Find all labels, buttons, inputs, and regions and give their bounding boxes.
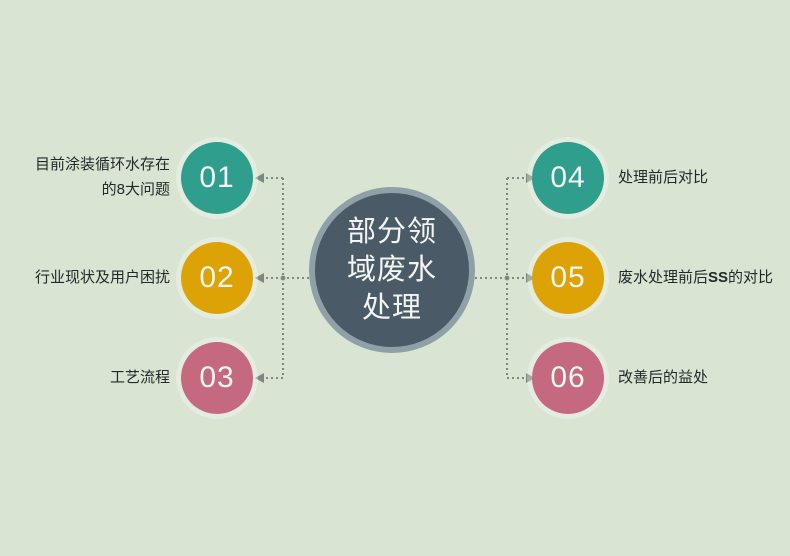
node-label-05: 废水处理前后SS的对比	[618, 265, 790, 290]
center-hub-title: 部分领 域废水 处理	[347, 213, 437, 327]
node-label-06: 改善后的益处	[618, 365, 790, 390]
node-circle-06[interactable]: 06	[532, 342, 604, 414]
center-hub: 部分领 域废水 处理	[309, 187, 475, 353]
node-circle-01[interactable]: 01	[181, 142, 253, 214]
right-junction-dot	[505, 276, 510, 281]
node-number-06: 06	[550, 363, 585, 393]
node-number-03: 03	[199, 363, 234, 393]
node-circle-05[interactable]: 05	[532, 242, 604, 314]
node-number-01: 01	[199, 163, 234, 193]
left-junction-dot	[281, 276, 286, 281]
node-number-04: 04	[550, 163, 585, 193]
node-circle-02[interactable]: 02	[181, 242, 253, 314]
node-circle-04[interactable]: 04	[532, 142, 604, 214]
node-label-01-line1: 目前涂装循环水存在	[0, 152, 170, 177]
node-number-02: 02	[199, 263, 234, 293]
node-label-05-prefix: 废水处理前后	[618, 269, 708, 286]
infographic-canvas: 部分领 域废水 处理 01 02 03 04 05 06 目前涂装循环水存在 的…	[0, 0, 790, 556]
node-label-04: 处理前后对比	[618, 165, 790, 190]
node-label-01: 目前涂装循环水存在 的8大问题	[0, 152, 170, 202]
arrowhead-left-02	[255, 273, 264, 283]
node-label-01-line2: 的8大问题	[0, 177, 170, 202]
node-label-05-suffix: 的对比	[728, 269, 773, 286]
node-label-03: 工艺流程	[0, 365, 170, 390]
node-circle-03[interactable]: 03	[181, 342, 253, 414]
arrowhead-left-01	[255, 173, 264, 183]
arrowhead-left-03	[255, 373, 264, 383]
node-label-02: 行业现状及用户困扰	[0, 265, 170, 290]
node-label-05-emphasis: SS	[708, 269, 728, 286]
node-number-05: 05	[550, 263, 585, 293]
